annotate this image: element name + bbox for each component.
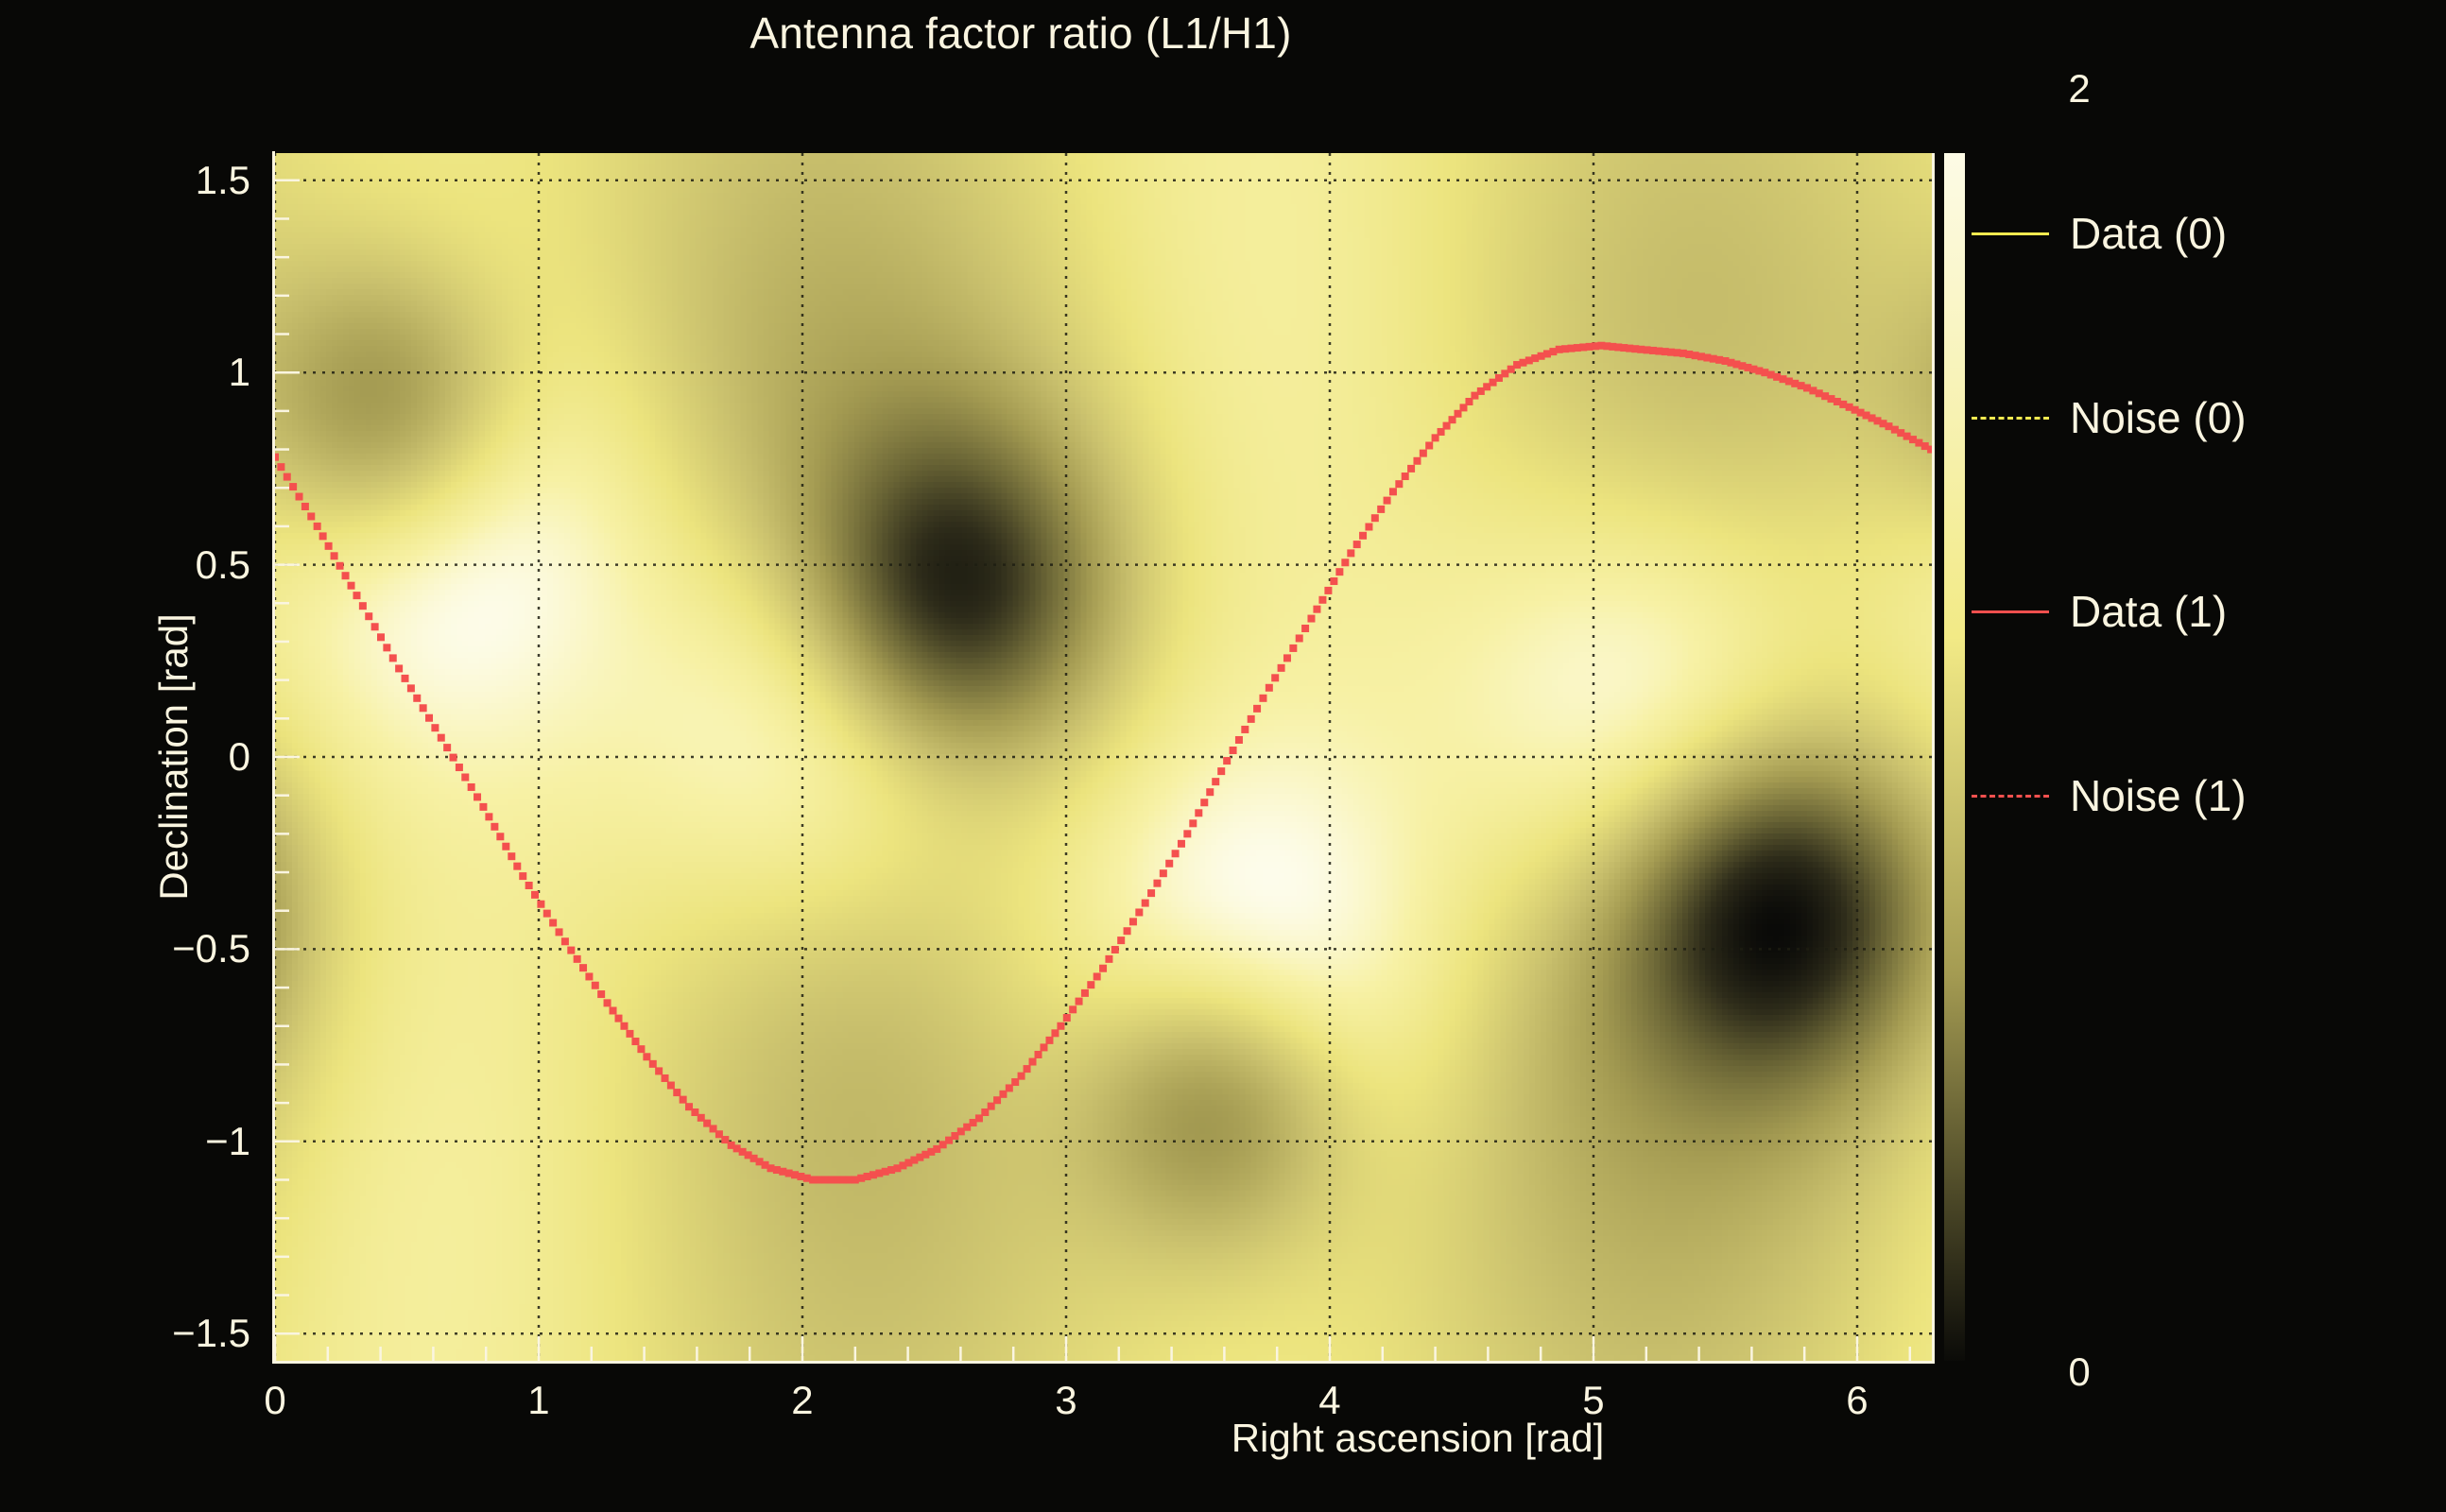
x-axis-spine xyxy=(272,1361,1935,1364)
figure-root: Antenna factor ratio (L1/H1) 1.510.50−0.… xyxy=(0,0,2446,1512)
x-axis-title: Right ascension [rad] xyxy=(1040,1416,1796,1461)
legend-line-dashed-icon xyxy=(1972,795,2049,798)
legend-entry[interactable]: Data (0) xyxy=(1972,205,2227,262)
y-axis-title: Declination [rad] xyxy=(38,153,87,1361)
legend-label: Data (0) xyxy=(2070,212,2227,255)
x-tick-label: 6 xyxy=(1846,1378,1868,1423)
x-tick-label: 0 xyxy=(264,1378,285,1423)
legend-label: Noise (1) xyxy=(2070,774,2247,817)
colorbar-gradient xyxy=(1944,153,1965,1361)
page-title: Antenna factor ratio (L1/H1) xyxy=(0,8,2041,59)
legend: Data (0)Noise (0)Data (1)Noise (1) xyxy=(1972,153,2444,1361)
legend-line-solid-icon xyxy=(1972,232,2049,235)
legend-entry[interactable]: Noise (0) xyxy=(1972,389,2247,446)
legend-label: Noise (0) xyxy=(2070,396,2247,439)
legend-entry[interactable]: Noise (1) xyxy=(1972,767,2247,824)
heatmap-canvas xyxy=(275,153,1932,1361)
legend-label: Data (1) xyxy=(2070,590,2227,633)
x-tick-label: 2 xyxy=(791,1378,813,1423)
colorbar-tick-label: 2 xyxy=(2068,66,2090,112)
x-tick-label: 1 xyxy=(527,1378,549,1423)
plot-area[interactable] xyxy=(275,153,1935,1361)
colorbar[interactable] xyxy=(1944,153,1965,1361)
legend-line-solid-icon xyxy=(1972,610,2049,613)
legend-entry[interactable]: Data (1) xyxy=(1972,583,2227,640)
legend-line-dashed-icon xyxy=(1972,417,2049,420)
